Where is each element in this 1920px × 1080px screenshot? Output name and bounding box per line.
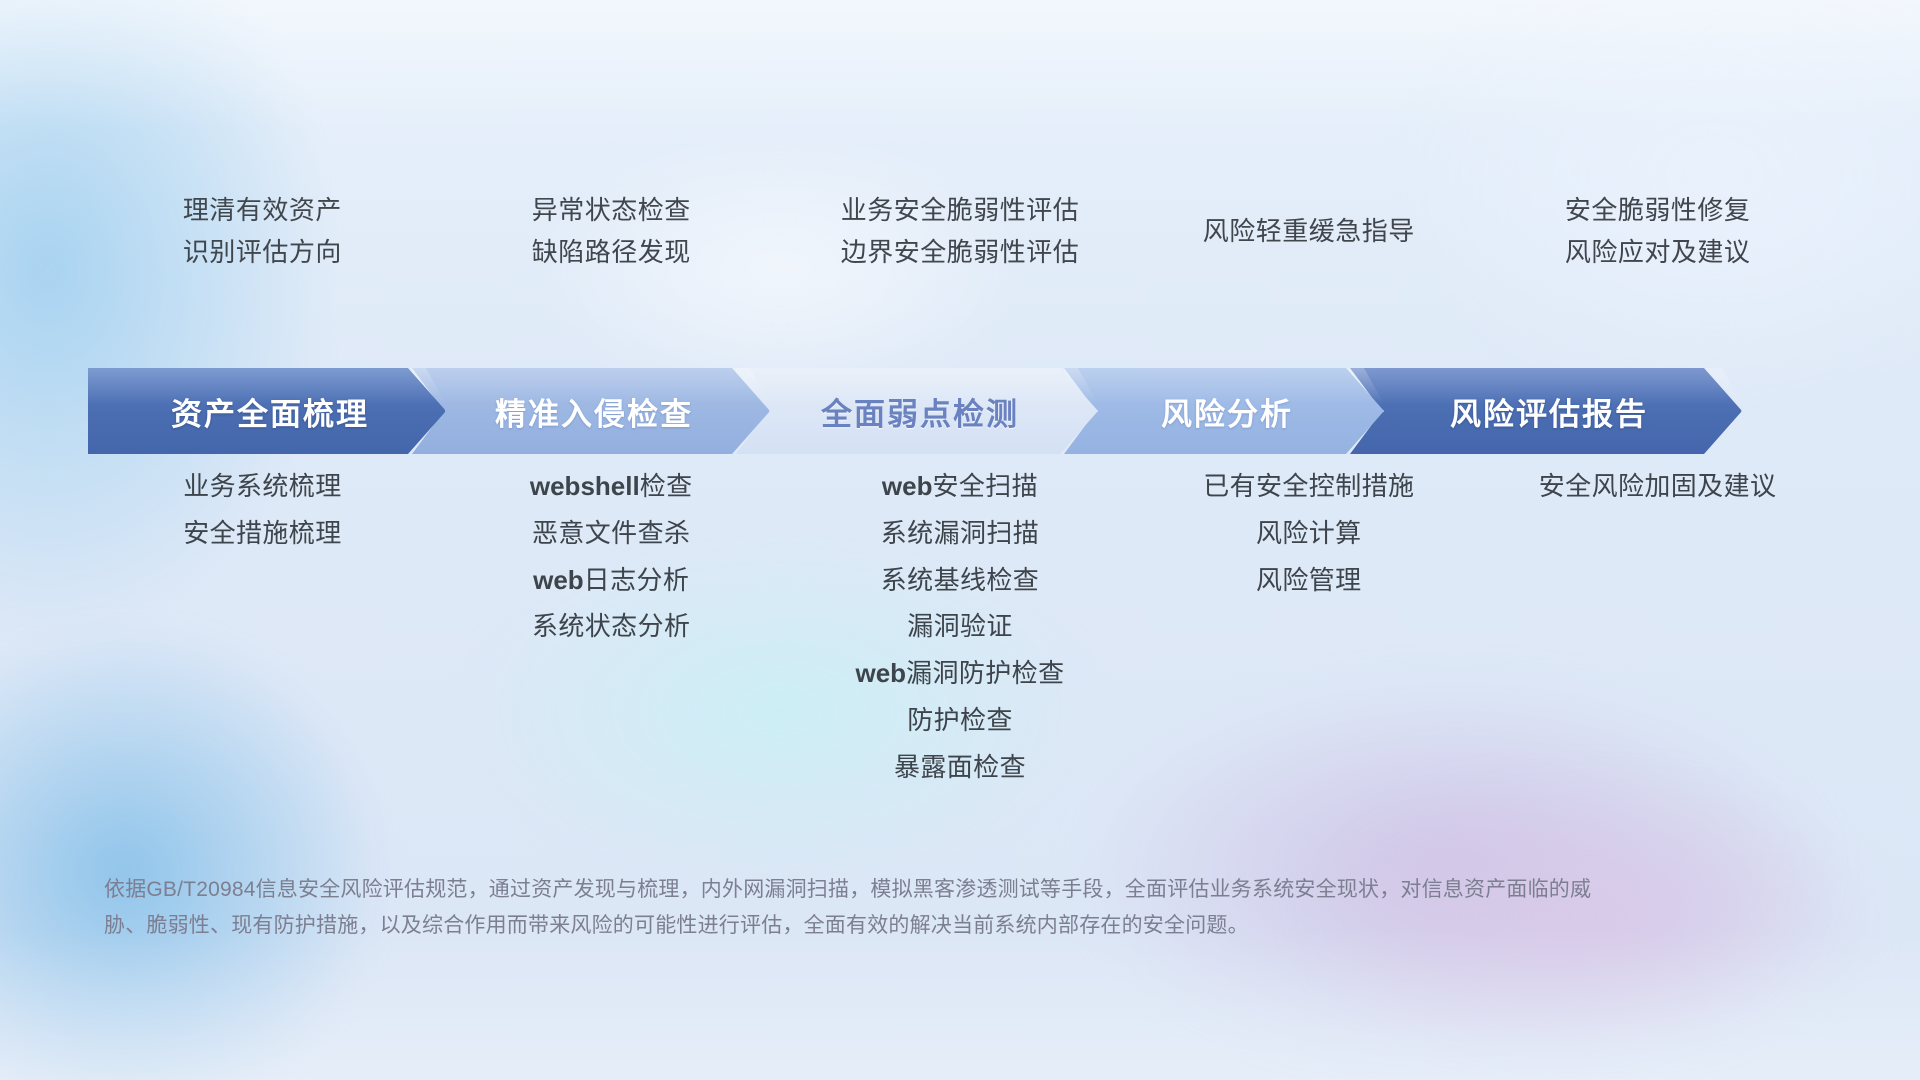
top-caption: 风险轻重缓急指导 [1203,215,1415,248]
top-caption: 安全脆弱性修复 [1565,194,1751,227]
step-label: 精准入侵检查 [489,389,693,434]
process-chevron-band: 资产全面梳理精准入侵检查全面弱点检测风险分析风险评估报告 [88,368,1840,454]
detail-list: webshell检查恶意文件查杀web日志分析系统状态分析 [437,470,786,790]
detail-item: web安全扫描 [882,470,1038,504]
detail-item: 暴露面检查 [894,751,1026,785]
detail-item: 漏洞验证 [907,610,1013,644]
detail-item: 风险管理 [1256,564,1362,598]
detail-item: 系统基线检查 [881,564,1039,598]
top-caption-group: 业务安全脆弱性评估边界安全脆弱性评估 [786,176,1135,286]
detail-item-emphasis: web [533,565,584,595]
top-caption: 风险应对及建议 [1565,236,1751,269]
detail-item: web日志分析 [533,564,689,598]
detail-item: 风险计算 [1256,517,1362,551]
process-step-5[interactable]: 风险评估报告 [1350,368,1742,454]
detail-item: 业务系统梳理 [183,470,341,504]
top-caption: 边界安全脆弱性评估 [841,236,1080,269]
detail-item: 已有安全控制措施 [1203,470,1414,504]
detail-item-emphasis: webshell [530,471,640,501]
bottom-details-row: 业务系统梳理安全措施梳理webshell检查恶意文件查杀web日志分析系统状态分… [88,470,1832,790]
top-caption-group: 理清有效资产识别评估方向 [88,176,437,286]
step-label: 风险评估报告 [1444,389,1648,434]
process-step-4[interactable]: 风险分析 [1064,368,1384,454]
step-label: 风险分析 [1155,389,1293,434]
detail-item: 安全措施梳理 [183,517,341,551]
detail-item: 恶意文件查杀 [532,517,690,551]
detail-item-text: 漏洞防护检查 [906,658,1064,688]
detail-list: 业务系统梳理安全措施梳理 [88,470,437,790]
step-label: 资产全面梳理 [165,389,369,434]
detail-item-text: 检查 [640,471,693,501]
top-caption: 识别评估方向 [183,236,342,269]
step-label: 全面弱点检测 [815,389,1019,434]
top-caption: 缺陷路径发现 [532,236,691,269]
top-caption: 异常状态检查 [532,194,691,227]
process-step-3[interactable]: 全面弱点检测 [736,368,1098,454]
top-caption: 业务安全脆弱性评估 [841,194,1080,227]
footer-description: 依据GB/T20984信息安全风险评估规范，通过资产发现与梳理，内外网漏洞扫描，… [104,872,1624,943]
detail-list: web安全扫描系统漏洞扫描系统基线检查漏洞验证web漏洞防护检查防护检查暴露面检… [786,470,1135,790]
detail-item: 安全风险加固及建议 [1539,470,1777,504]
detail-item: 系统漏洞扫描 [881,517,1039,551]
detail-item: web漏洞防护检查 [856,657,1065,691]
slide-canvas: 理清有效资产识别评估方向异常状态检查缺陷路径发现业务安全脆弱性评估边界安全脆弱性… [0,0,1920,1080]
top-caption-group: 异常状态检查缺陷路径发现 [437,176,786,286]
detail-item-text: 日志分析 [584,565,690,595]
detail-list: 已有安全控制措施风险计算风险管理 [1134,470,1483,790]
process-step-1[interactable]: 资产全面梳理 [88,368,446,454]
detail-list: 安全风险加固及建议 [1483,470,1832,790]
detail-item-emphasis: web [882,471,933,501]
detail-item: 系统状态分析 [532,610,690,644]
detail-item-emphasis: web [856,658,907,688]
top-caption: 理清有效资产 [183,194,342,227]
top-caption-group: 风险轻重缓急指导 [1134,176,1483,286]
top-caption-group: 安全脆弱性修复风险应对及建议 [1483,176,1832,286]
top-captions-row: 理清有效资产识别评估方向异常状态检查缺陷路径发现业务安全脆弱性评估边界安全脆弱性… [88,176,1832,286]
detail-item: webshell检查 [530,470,693,504]
process-step-2[interactable]: 精准入侵检查 [412,368,770,454]
detail-item-text: 安全扫描 [932,471,1038,501]
detail-item: 防护检查 [907,704,1013,738]
